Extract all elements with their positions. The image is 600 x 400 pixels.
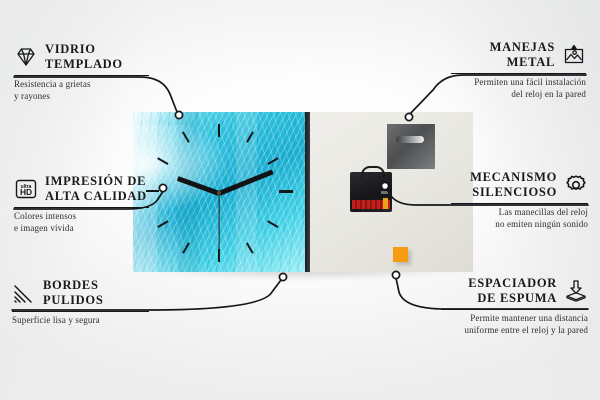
callout-manejas-metal[interactable]: MANEJASMETAL Permiten una fácil instalac… xyxy=(451,40,586,101)
callout-description: Las manecillas del relojno emiten ningún… xyxy=(451,207,588,231)
callout-description: Resistencia a grietasy rayones xyxy=(14,79,149,103)
callout-rule xyxy=(14,207,149,209)
callout-rule xyxy=(451,73,586,75)
callout-description: Permite mantener una distanciauniforme e… xyxy=(441,313,588,337)
mechanism-chip xyxy=(381,191,389,194)
clock-back-panel xyxy=(310,112,473,272)
callout-title: MANEJASMETAL xyxy=(490,40,555,70)
callout-rule xyxy=(14,75,149,77)
callout-description: Colores intensose imagen vívida xyxy=(14,211,149,235)
callout-mecanismo-silencioso[interactable]: MECANISMOSILENCIOSO Las manecillas del r… xyxy=(451,170,588,231)
callout-header: BORDESPULIDOS xyxy=(12,278,149,308)
battery-compartment xyxy=(352,200,390,209)
clock-face-front xyxy=(133,112,305,272)
polished-edges-icon xyxy=(12,281,36,305)
product-image xyxy=(133,112,473,272)
callout-description: Permiten una fácil instalacióndel reloj … xyxy=(451,77,586,101)
callout-title: BORDESPULIDOS xyxy=(43,278,103,308)
clock-second-hand xyxy=(218,193,219,255)
wall-hanger-frame-icon xyxy=(562,43,586,67)
foam-spacer-arrow-icon xyxy=(564,279,588,303)
callout-rule xyxy=(441,309,588,311)
callout-header: ESPACIADORDE ESPUMA xyxy=(441,276,588,306)
metal-hanger-plate xyxy=(387,124,435,169)
callout-title: ESPACIADORDE ESPUMA xyxy=(468,276,557,306)
ultra-hd-icon: ultra HD xyxy=(14,177,38,201)
callout-header: MANEJASMETAL xyxy=(451,40,586,70)
callout-rule xyxy=(451,203,588,205)
gear-icon xyxy=(564,173,588,197)
callout-espaciador-espuma[interactable]: ESPACIADORDE ESPUMA Permite mantener una… xyxy=(441,276,588,337)
mechanism-loop xyxy=(361,166,385,178)
clock-tick xyxy=(279,190,293,193)
callout-header: ultra HD IMPRESIÓN DEALTA CALIDAD xyxy=(14,174,149,204)
callout-title: IMPRESIÓN DEALTA CALIDAD xyxy=(45,174,147,204)
callout-impresion-alta-calidad[interactable]: ultra HD IMPRESIÓN DEALTA CALIDAD Colore… xyxy=(14,174,149,235)
callout-header: VIDRIOTEMPLADO xyxy=(14,42,149,72)
diamond-icon xyxy=(14,45,38,69)
callout-description: Superficie lisa y segura xyxy=(12,315,149,327)
clock-center-pivot xyxy=(217,191,221,195)
callout-title: MECANISMOSILENCIOSO xyxy=(470,170,557,200)
quartz-mechanism xyxy=(350,172,392,212)
callout-title: VIDRIOTEMPLADO xyxy=(45,42,123,72)
callout-header: MECANISMOSILENCIOSO xyxy=(451,170,588,200)
battery-tip xyxy=(383,198,388,209)
callout-bordes-pulidos[interactable]: BORDESPULIDOS Superficie lisa y segura xyxy=(12,278,149,327)
svg-text:HD: HD xyxy=(20,187,32,197)
callout-rule xyxy=(12,311,149,313)
infographic-canvas: VIDRIOTEMPLADO Resistencia a grietasy ra… xyxy=(0,0,600,400)
clock-tick xyxy=(218,124,220,137)
callout-vidrio-templado[interactable]: VIDRIOTEMPLADO Resistencia a grietasy ra… xyxy=(14,42,149,103)
hanger-slot xyxy=(396,136,424,143)
foam-spacer xyxy=(393,247,408,262)
